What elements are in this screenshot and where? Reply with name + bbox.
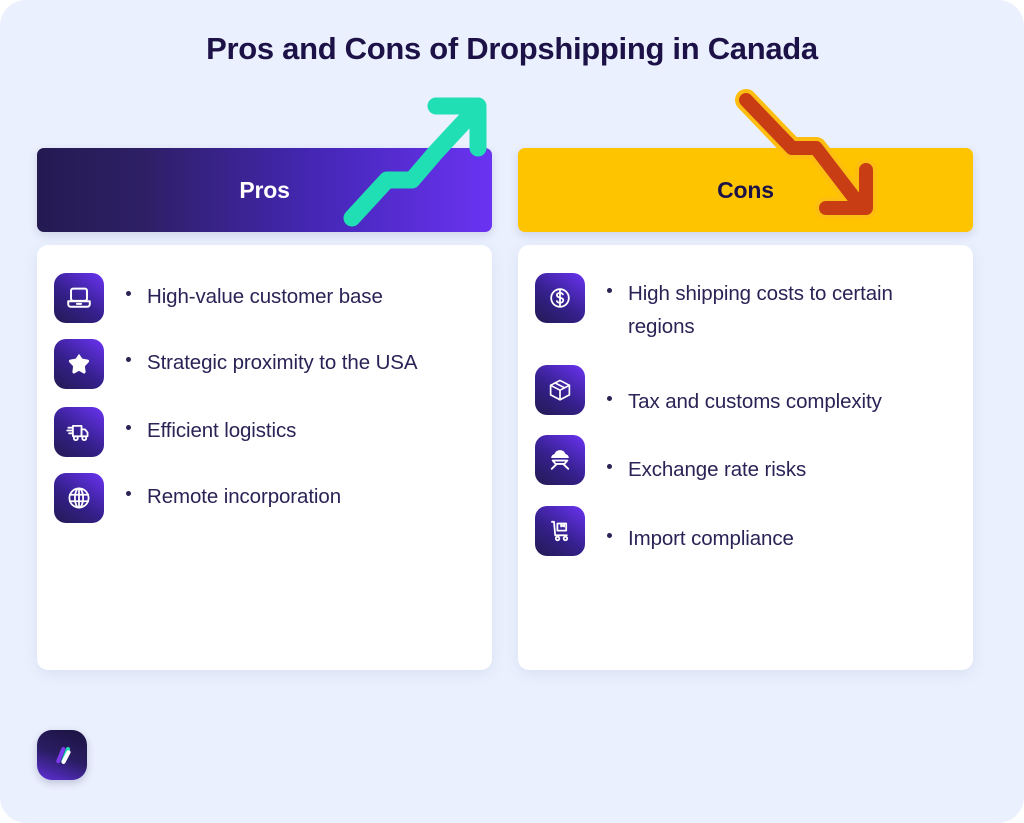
arrow-trending-down-icon (734, 86, 899, 231)
pros-heading: Pros (239, 177, 289, 204)
currency-exchange-icon (535, 435, 585, 485)
list-item-body: High shipping costs to certain regions (585, 271, 908, 343)
list-item-body: Strategic proximity to the USA (104, 337, 417, 379)
package-box-icon (535, 365, 585, 415)
pros-list: High-value customer base Strategic proxi… (54, 271, 472, 523)
list-item-body: Efficient logistics (104, 405, 296, 447)
list-item-label: Strategic proximity to the USA (147, 346, 417, 379)
list-item-body: High-value customer base (104, 271, 383, 313)
cons-banner: Cons (518, 148, 973, 232)
list-item-label: Tax and customs complexity (628, 385, 882, 418)
delivery-truck-icon (54, 407, 104, 457)
list-item[interactable]: Efficient logistics (54, 405, 472, 457)
list-item[interactable]: Strategic proximity to the USA (54, 337, 472, 389)
bullet-icon (607, 288, 612, 293)
star-glyph (64, 349, 94, 379)
logo-slashes-icon (47, 740, 77, 770)
arrow-trending-up-icon (340, 90, 500, 230)
list-item-body: Import compliance (585, 504, 794, 555)
list-item[interactable]: High-value customer base (54, 271, 472, 323)
list-item[interactable]: Exchange rate risks (535, 433, 953, 486)
infographic-page: Pros and Cons of Dropshipping in Canada … (0, 0, 1024, 823)
pros-banner: Pros (37, 148, 492, 232)
list-item[interactable]: Tax and customs complexity (535, 363, 953, 418)
bullet-icon (126, 425, 131, 430)
bullet-icon (126, 357, 131, 362)
cons-list: High shipping costs to certain regions (535, 271, 953, 556)
cons-card: High shipping costs to certain regions (518, 245, 973, 670)
cons-column: Cons (518, 148, 973, 670)
bullet-icon (126, 491, 131, 496)
hand-truck-icon (535, 506, 585, 556)
cons-heading: Cons (717, 177, 774, 204)
list-item-label: High shipping costs to certain regions (628, 277, 908, 343)
dollar-coin-icon (535, 273, 585, 323)
list-item-body: Tax and customs complexity (585, 363, 882, 418)
bullet-icon (607, 533, 612, 538)
exchange-glyph (545, 445, 575, 475)
pros-card: High-value customer base Strategic proxi… (37, 245, 492, 670)
list-item-label: Import compliance (628, 522, 794, 555)
brand-logo[interactable] (37, 730, 87, 780)
pros-column: Pros (37, 148, 492, 670)
laptop-icon (54, 273, 104, 323)
list-item-label: Efficient logistics (147, 414, 296, 447)
star-icon (54, 339, 104, 389)
globe-icon (54, 473, 104, 523)
bullet-icon (607, 396, 612, 401)
list-item[interactable]: High shipping costs to certain regions (535, 271, 953, 343)
list-item-label: Exchange rate risks (628, 453, 806, 486)
page-title: Pros and Cons of Dropshipping in Canada (0, 31, 1024, 67)
list-item-body: Exchange rate risks (585, 433, 806, 486)
list-item-body: Remote incorporation (104, 471, 341, 513)
list-item-label: Remote incorporation (147, 480, 341, 513)
list-item-label: High-value customer base (147, 280, 383, 313)
list-item[interactable]: Import compliance (535, 504, 953, 556)
bullet-icon (607, 464, 612, 469)
bullet-icon (126, 291, 131, 296)
list-item[interactable]: Remote incorporation (54, 471, 472, 523)
